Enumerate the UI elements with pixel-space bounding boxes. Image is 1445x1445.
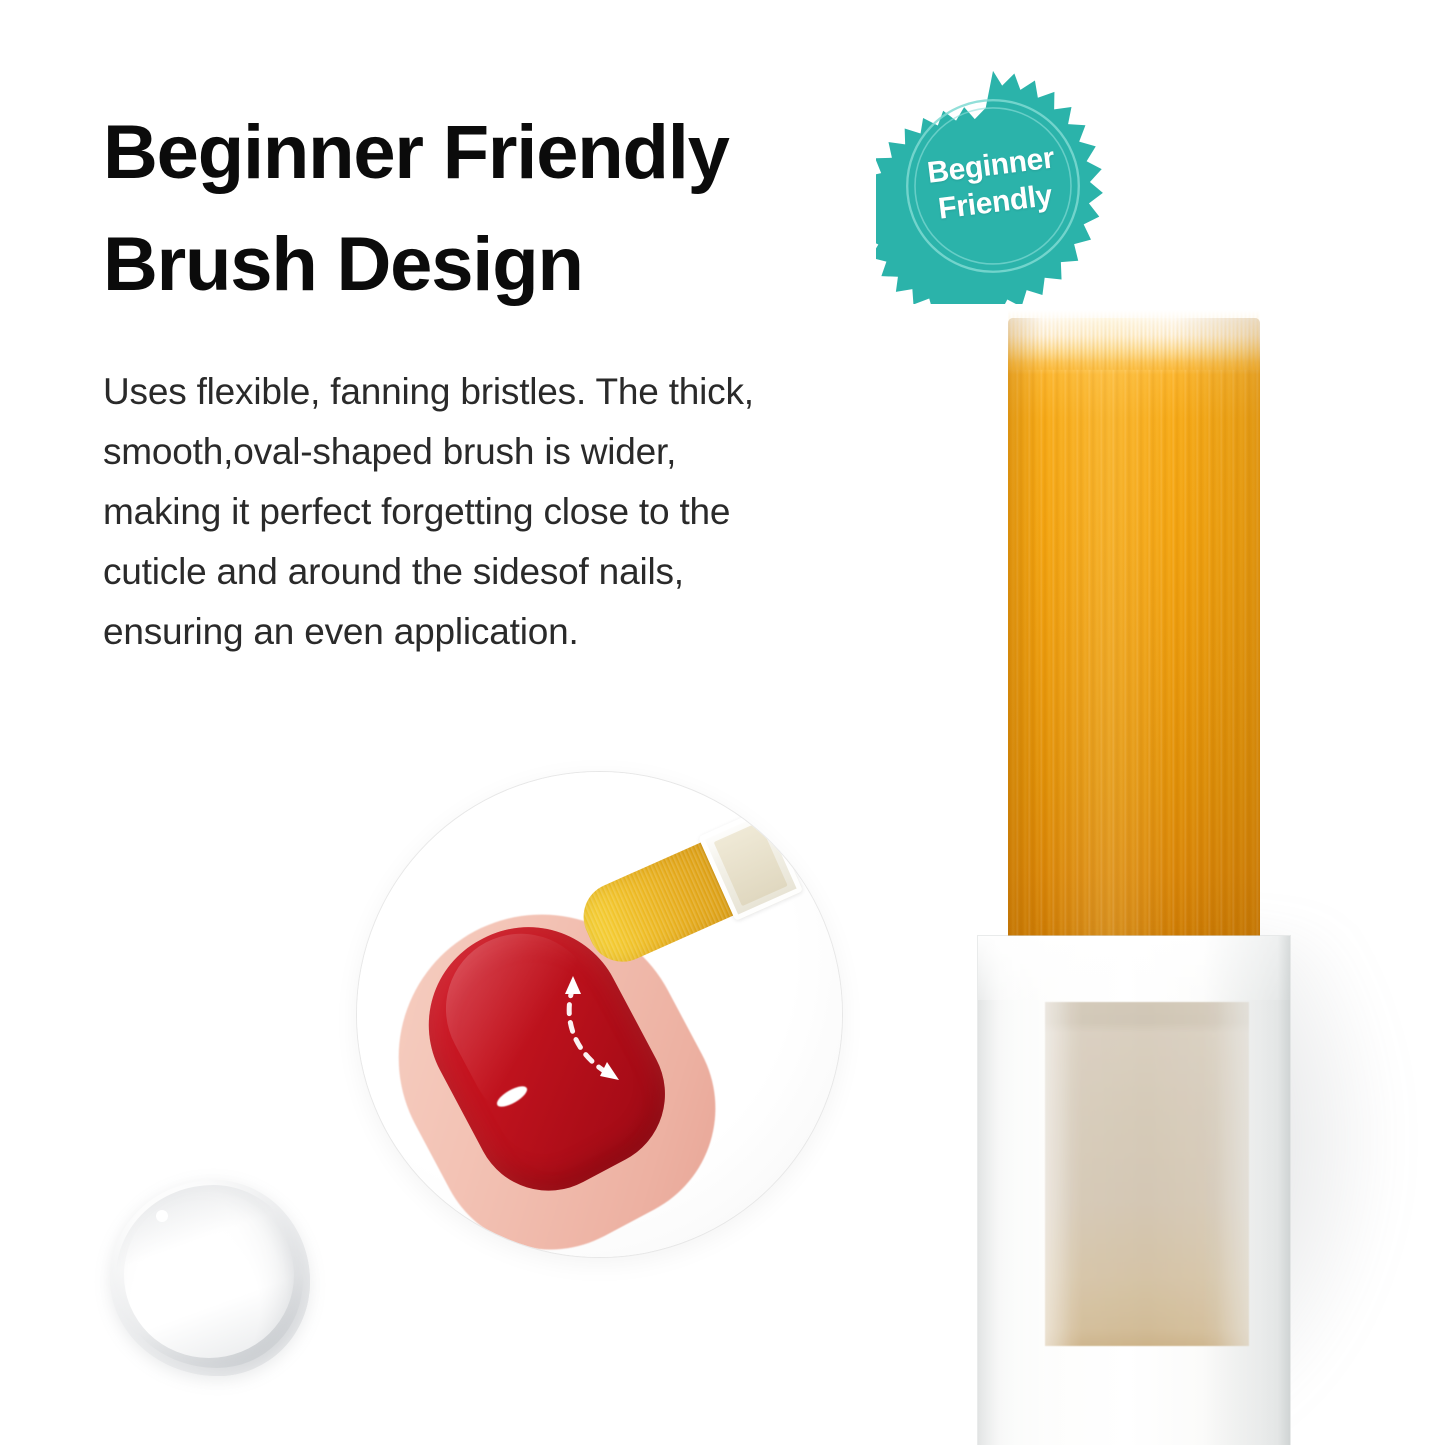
product-feature-card: Beginner Friendly Brush Design Uses flex… <box>0 0 1445 1445</box>
page-title: Beginner Friendly Brush Design <box>103 97 863 322</box>
droplet-highlight-large <box>156 1210 168 1222</box>
brush-handle-core <box>1045 1002 1249 1346</box>
brush-bristles <box>1008 318 1260 948</box>
droplet-rim <box>116 1185 303 1368</box>
water-droplet <box>110 1180 310 1376</box>
bristle-tips <box>1008 310 1260 370</box>
badge-inner-ring <box>876 64 1110 304</box>
product-brush-image <box>930 300 1350 1445</box>
nail-application-inset <box>357 772 842 1257</box>
beginner-friendly-badge: Beginner Friendly <box>876 64 1110 304</box>
description-text: Uses flexible, fanning bristles. The thi… <box>103 362 903 662</box>
droplet-highlight-small <box>156 1260 161 1265</box>
